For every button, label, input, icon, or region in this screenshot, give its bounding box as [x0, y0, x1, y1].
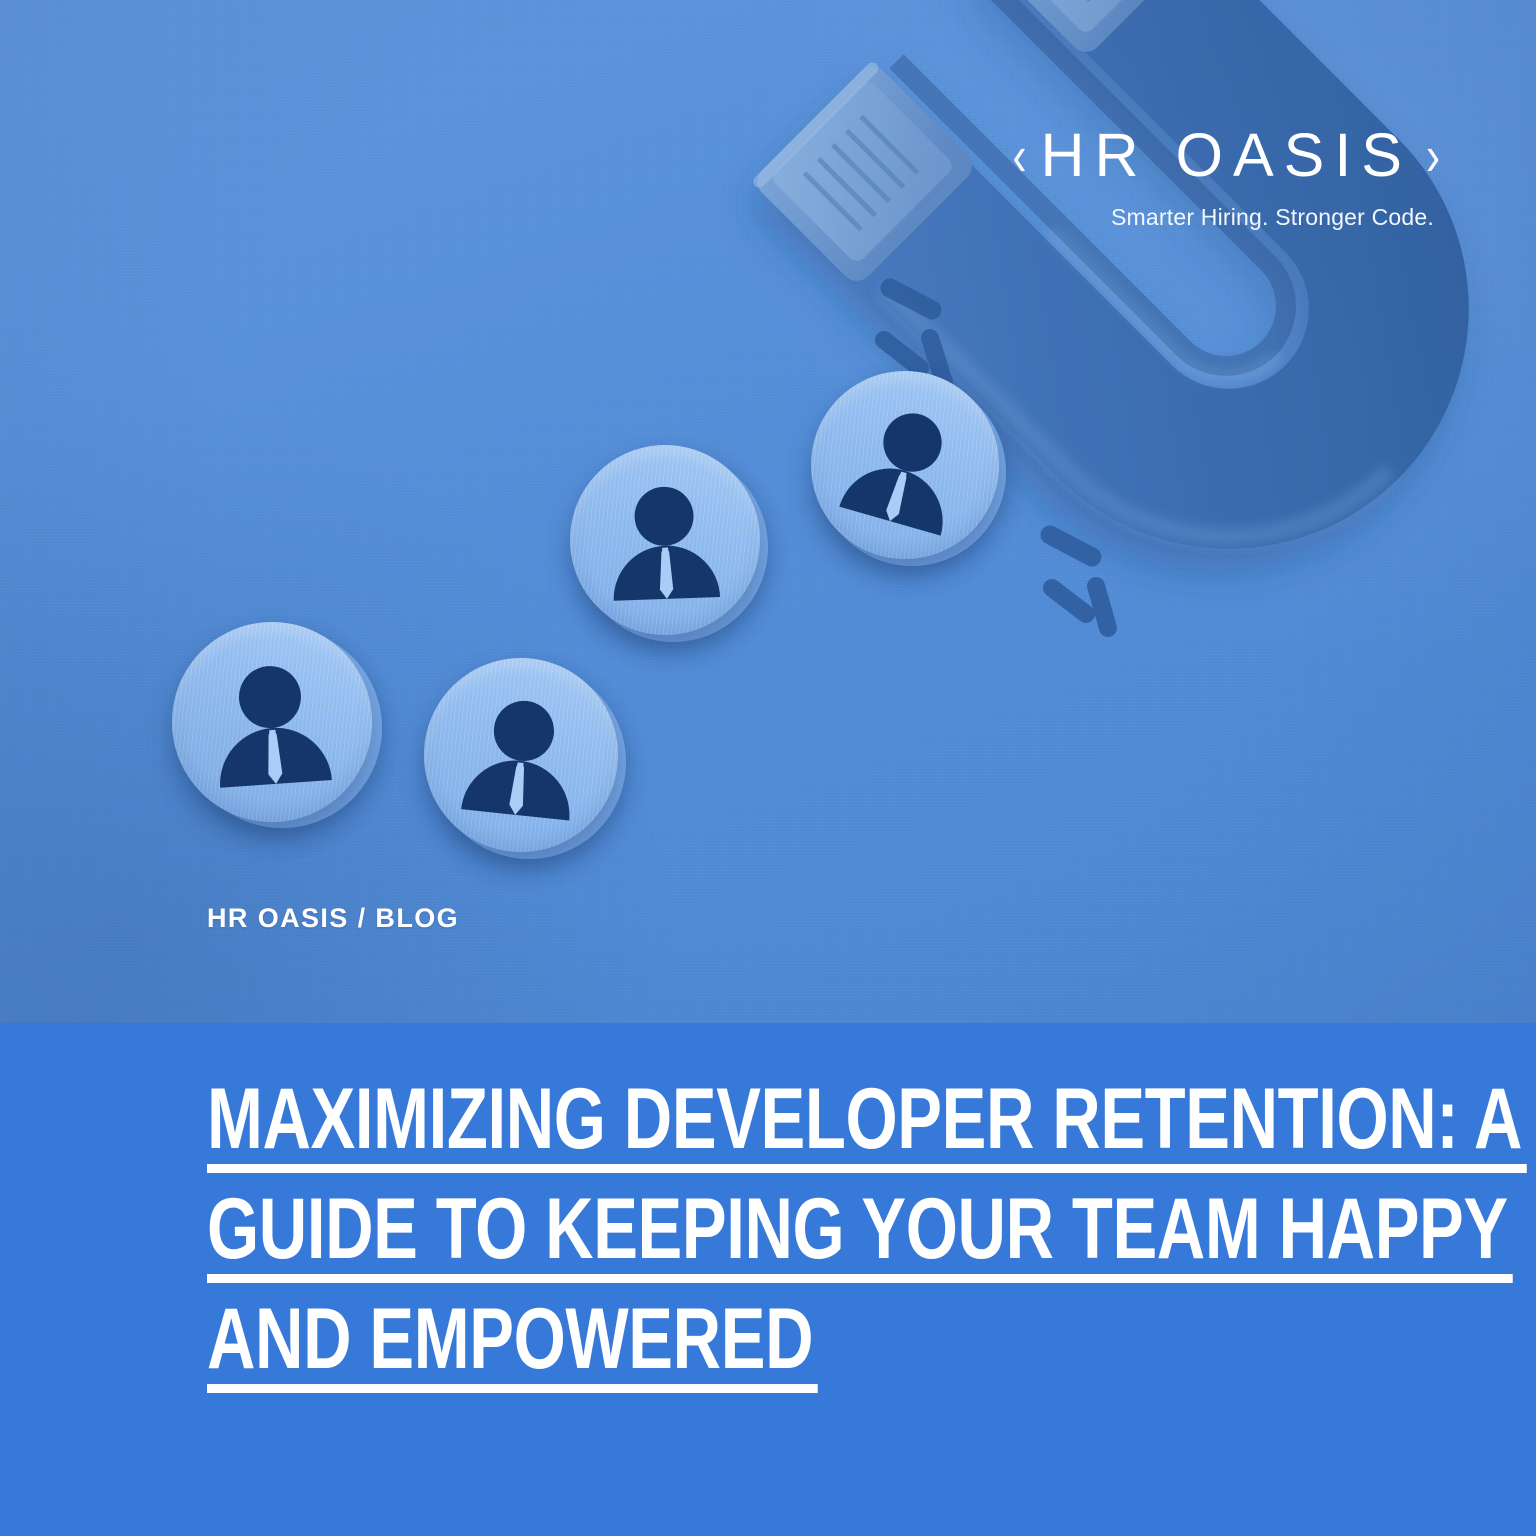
chevron-right-icon: ›: [1426, 127, 1440, 184]
blog-cover-poster: ‹ HR OASIS › Smarter Hiring. Stronger Co…: [0, 0, 1536, 1536]
breadcrumb[interactable]: HR OASIS / BLOG: [207, 903, 459, 934]
wooden-disc-2: [424, 658, 618, 852]
wooden-disc-1: [172, 622, 372, 822]
brand-logo[interactable]: ‹ HR OASIS › Smarter Hiring. Stronger Co…: [1012, 125, 1440, 231]
person-with-tie-icon: [570, 445, 760, 635]
person-with-tie-icon: [172, 622, 372, 822]
logo-wordmark: HR OASIS: [1040, 125, 1412, 186]
wooden-disc-4: [811, 371, 999, 559]
wooden-disc-3: [570, 445, 760, 635]
logo-tagline: Smarter Hiring. Stronger Code.: [1012, 204, 1434, 231]
logo-lockup: ‹ HR OASIS ›: [1012, 125, 1440, 186]
page-title: MAXIMIZING DEVELOPER RETENTION: A GUIDE …: [207, 1071, 1387, 1401]
person-with-tie-icon: [424, 658, 618, 852]
magnet-spark-group-lower: [1050, 535, 1108, 628]
page-title-line-1: MAXIMIZING DEVELOPER RETENTION: A: [207, 1071, 1522, 1171]
page-title-line-2: GUIDE TO KEEPING YOUR TEAM HAPPY: [207, 1181, 1508, 1281]
page-title-line-3: AND EMPOWERED: [207, 1291, 813, 1391]
chevron-left-icon: ‹: [1012, 127, 1026, 184]
title-band: MAXIMIZING DEVELOPER RETENTION: A GUIDE …: [0, 1023, 1536, 1536]
person-with-tie-icon: [811, 371, 999, 559]
